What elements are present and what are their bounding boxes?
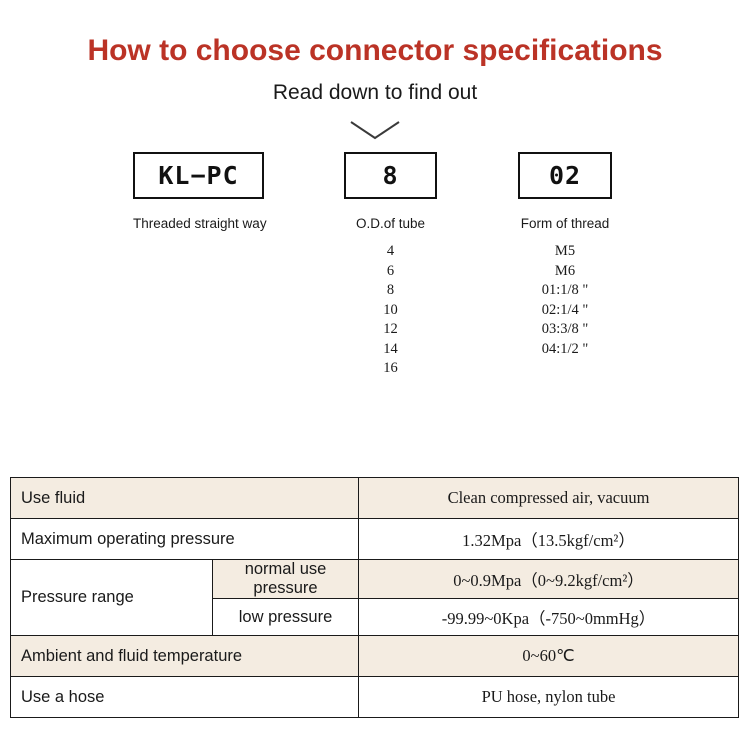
caption-thread-form: Form of thread xyxy=(518,216,612,231)
list-item: 16 xyxy=(344,359,437,379)
list-item: 04:1/2 " xyxy=(498,340,632,360)
list-item: 01:1/8 " xyxy=(498,281,632,301)
row-label-use-a-hose: Use a hose xyxy=(11,677,359,718)
list-item: 02:1/4 " xyxy=(498,301,632,321)
list-item: M6 xyxy=(498,262,632,282)
row-label-pressure-range: Pressure range xyxy=(11,560,213,636)
list-item: 03:3/8 " xyxy=(498,320,632,340)
caption-series: Threaded straight way xyxy=(133,216,264,231)
caption-tube-od: O.D.of tube xyxy=(344,216,437,231)
specification-table: Use fluid Clean compressed air, vacuum M… xyxy=(10,477,739,718)
option-list-tube-od: 4 6 8 10 12 14 16 xyxy=(344,242,437,379)
code-captions-row: Threaded straight way O.D.of tube Form o… xyxy=(0,212,750,238)
page-header: How to choose connector specifications R… xyxy=(0,0,750,104)
table-row: Maximum operating pressure 1.32Mpa（13.5k… xyxy=(11,519,739,560)
page-title: How to choose connector specifications xyxy=(0,34,750,67)
row-label-max-operating-pressure: Maximum operating pressure xyxy=(11,519,359,560)
row-label-ambient-fluid-temperature: Ambient and fluid temperature xyxy=(11,636,359,677)
row-value-ambient-fluid-temperature: 0~60℃ xyxy=(359,636,739,677)
chevron-down-icon xyxy=(347,118,403,142)
list-item: 6 xyxy=(344,262,437,282)
page-subtitle: Read down to find out xyxy=(0,81,750,104)
list-item: 4 xyxy=(344,242,437,262)
row-value-use-a-hose: PU hose, nylon tube xyxy=(359,677,739,718)
row-sublabel-normal-use-pressure: normal use pressure xyxy=(213,560,359,599)
option-list-thread-form: M5 M6 01:1/8 " 02:1/4 " 03:3/8 " 04:1/2 … xyxy=(498,242,632,359)
row-value-use-fluid: Clean compressed air, vacuum xyxy=(359,478,739,519)
option-lists: 4 6 8 10 12 14 16 M5 M6 01:1/8 " 02:1/4 … xyxy=(0,238,750,408)
row-label-use-fluid: Use fluid xyxy=(11,478,359,519)
list-item: 12 xyxy=(344,320,437,340)
table-row: Use a hose PU hose, nylon tube xyxy=(11,677,739,718)
row-value-low-pressure: -99.99~0Kpa（-750~0mmHg） xyxy=(359,599,739,636)
row-value-max-operating-pressure: 1.32Mpa（13.5kgf/cm²） xyxy=(359,519,739,560)
chevron-down-icon-wrap xyxy=(0,118,750,144)
code-box-tube-od: 8 xyxy=(344,152,437,199)
row-sublabel-low-pressure: low pressure xyxy=(213,599,359,636)
table-row: Ambient and fluid temperature 0~60℃ xyxy=(11,636,739,677)
list-item: 14 xyxy=(344,340,437,360)
table-row: Pressure range normal use pressure 0~0.9… xyxy=(11,560,739,599)
code-box-series: KL−PC xyxy=(133,152,264,199)
list-item: M5 xyxy=(498,242,632,262)
code-box-thread-form: 02 xyxy=(518,152,612,199)
table-row: Use fluid Clean compressed air, vacuum xyxy=(11,478,739,519)
specification-table-wrap: Use fluid Clean compressed air, vacuum M… xyxy=(10,477,738,718)
list-item: 10 xyxy=(344,301,437,321)
list-item: 8 xyxy=(344,281,437,301)
code-boxes-row: KL−PC 8 02 xyxy=(0,152,750,212)
row-value-normal-use-pressure: 0~0.9Mpa（0~9.2kgf/cm²） xyxy=(359,560,739,599)
